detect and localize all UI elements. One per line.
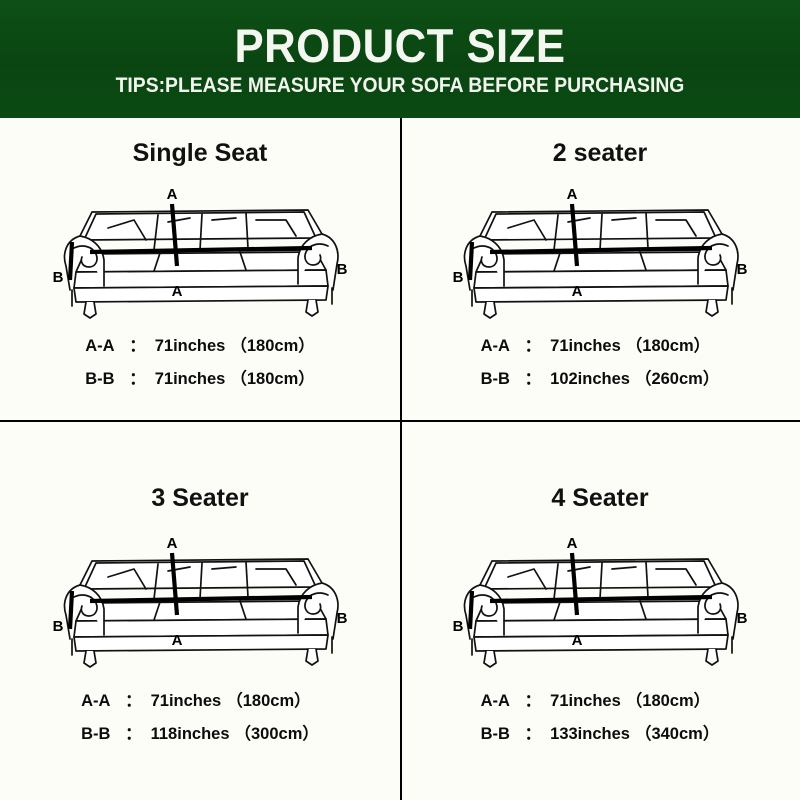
size-card-title: 3 Seater xyxy=(151,485,248,513)
svg-text:B: B xyxy=(337,610,348,627)
spec-colon: ： xyxy=(525,332,542,356)
spec-colon: ： xyxy=(525,687,542,711)
svg-text:B: B xyxy=(453,269,464,286)
spec-centimeters: （340cm） xyxy=(635,720,719,744)
spec-label: B-B xyxy=(481,725,525,744)
spec-inches: 71inches xyxy=(155,337,226,356)
size-card-title: 2 seater xyxy=(553,140,648,168)
spec-colon: ： xyxy=(129,365,146,389)
spec-inches: 71inches xyxy=(550,337,621,356)
header-banner: PRODUCT SIZE TIPS:PLEASE MEASURE YOUR SO… xyxy=(0,0,800,118)
svg-text:B: B xyxy=(53,269,64,286)
spec-list: A-A ： 71inches （180cm） B-B ： 71inches （1… xyxy=(85,332,315,389)
svg-text:A: A xyxy=(167,186,178,203)
spec-centimeters: （260cm） xyxy=(635,365,719,389)
svg-text:A: A xyxy=(572,632,583,649)
spec-row-a: A-A ： 71inches （180cm） xyxy=(481,687,720,711)
spec-label: B-B xyxy=(481,370,525,389)
spec-inches: 118inches xyxy=(151,725,230,744)
size-card-4-seater: 4 Seater xyxy=(400,459,800,800)
spec-centimeters: （180cm） xyxy=(226,687,310,711)
sofa-outline-icon: A A B B xyxy=(450,523,750,673)
svg-text:B: B xyxy=(453,618,464,635)
spec-inches: 71inches xyxy=(550,692,621,711)
svg-text:B: B xyxy=(53,618,64,635)
page-title: PRODUCT SIZE xyxy=(234,22,565,69)
svg-text:A: A xyxy=(172,632,183,649)
size-card-title: Single Seat xyxy=(133,140,268,168)
spec-inches: 102inches xyxy=(550,370,630,389)
spec-colon: ： xyxy=(129,332,146,356)
spec-label: A-A xyxy=(481,337,525,356)
spec-inches: 133inches xyxy=(550,725,630,744)
size-grid: Single Seat xyxy=(0,118,800,800)
page-subtitle: TIPS:PLEASE MEASURE YOUR SOFA BEFORE PUR… xyxy=(116,75,685,97)
spec-centimeters: （180cm） xyxy=(626,332,710,356)
size-card-title: 4 Seater xyxy=(551,485,648,513)
spec-list: A-A ： 71inches （180cm） B-B ： 133inches （… xyxy=(481,687,720,744)
product-size-infographic: PRODUCT SIZE TIPS:PLEASE MEASURE YOUR SO… xyxy=(0,0,800,800)
spec-colon: ： xyxy=(125,687,142,711)
svg-text:A: A xyxy=(572,283,583,300)
spec-label: B-B xyxy=(85,370,129,389)
spec-colon: ： xyxy=(525,720,542,744)
grid-divider-vertical xyxy=(400,118,402,800)
spec-row-b: B-B ： 102inches （260cm） xyxy=(481,365,720,389)
spec-colon: ： xyxy=(525,365,542,389)
spec-centimeters: （180cm） xyxy=(626,687,710,711)
grid-divider-horizontal xyxy=(0,420,800,422)
spec-label: A-A xyxy=(481,692,525,711)
sofa-outline-icon: A A B B xyxy=(50,523,350,673)
spec-colon: ： xyxy=(125,720,142,744)
spec-row-b: B-B ： 71inches （180cm） xyxy=(85,365,315,389)
svg-text:A: A xyxy=(567,535,578,552)
svg-text:B: B xyxy=(737,261,748,278)
spec-row-b: B-B ： 118inches （300cm） xyxy=(81,720,319,744)
spec-inches: 71inches xyxy=(155,370,226,389)
sofa-outline-icon: A A B B xyxy=(50,174,350,324)
sofa-outline-icon: A A B B xyxy=(450,174,750,324)
spec-row-b: B-B ： 133inches （340cm） xyxy=(481,720,720,744)
spec-label: A-A xyxy=(85,337,129,356)
size-card-3-seater: 3 Seater xyxy=(0,459,400,800)
spec-label: A-A xyxy=(81,692,125,711)
spec-label: B-B xyxy=(81,725,125,744)
svg-text:B: B xyxy=(337,261,348,278)
spec-centimeters: （180cm） xyxy=(230,332,314,356)
spec-list: A-A ： 71inches （180cm） B-B ： 118inches （… xyxy=(81,687,319,744)
size-card-2-seater: 2 seater xyxy=(400,118,800,459)
spec-row-a: A-A ： 71inches （180cm） xyxy=(85,332,315,356)
spec-list: A-A ： 71inches （180cm） B-B ： 102inches （… xyxy=(481,332,720,389)
svg-text:B: B xyxy=(737,610,748,627)
size-card-single-seat: Single Seat xyxy=(0,118,400,459)
spec-centimeters: （180cm） xyxy=(230,365,314,389)
svg-text:A: A xyxy=(167,535,178,552)
spec-row-a: A-A ： 71inches （180cm） xyxy=(81,687,319,711)
svg-text:A: A xyxy=(567,186,578,203)
spec-centimeters: （300cm） xyxy=(235,720,319,744)
spec-row-a: A-A ： 71inches （180cm） xyxy=(481,332,720,356)
svg-text:A: A xyxy=(172,283,183,300)
spec-inches: 71inches xyxy=(151,692,222,711)
